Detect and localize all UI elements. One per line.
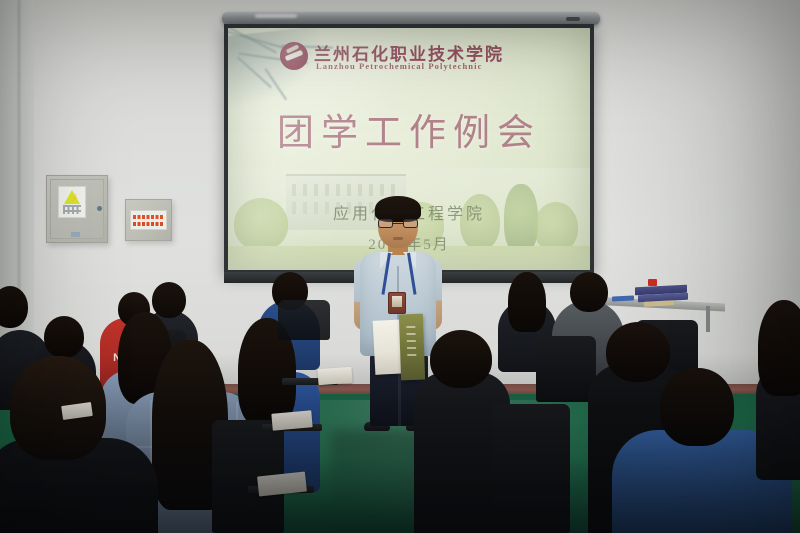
back-table-leg	[706, 306, 710, 332]
university-emblem-icon	[280, 42, 308, 70]
red-cap-bottle	[648, 279, 657, 286]
panel-lock-knob	[97, 206, 102, 211]
presenter-mouth	[393, 237, 403, 240]
breaker-switch-row-bottom	[133, 222, 164, 226]
notebook-paper	[271, 410, 312, 430]
olive-folder	[399, 314, 425, 381]
panel-label-tag	[71, 232, 80, 237]
high-voltage-warning-icon: ⚡	[58, 186, 86, 218]
roller-end-cap	[566, 17, 580, 21]
classroom-chair	[536, 336, 596, 402]
slide-school-name-en: Lanzhou Petrochemical Polytechnic	[316, 61, 482, 71]
warning-bolt-glyph: ⚡	[70, 195, 79, 202]
electrical-distribution-box: ⚡	[46, 175, 108, 243]
glasses-lens-left	[378, 219, 393, 228]
classroom-chair	[492, 404, 570, 533]
breaker-grid-graphic	[63, 205, 81, 214]
roller-highlight	[255, 14, 297, 18]
classroom-chair	[278, 300, 330, 340]
id-badge	[388, 292, 406, 314]
breaker-face	[130, 210, 167, 230]
circuit-breaker-box	[125, 199, 172, 241]
breaker-switch-row-top	[133, 215, 164, 219]
slide-title: 团学工作例会	[228, 102, 590, 156]
glasses-bridge	[393, 223, 403, 224]
glasses-lens-right	[403, 219, 418, 228]
classroom-presentation-photo: ⚡ 兰州石化职业技术学院 Lanzhou Petroc	[0, 0, 800, 533]
notebook-paper	[317, 367, 352, 385]
wall-corner-seam	[18, 0, 20, 300]
eyeglasses-icon	[378, 219, 418, 228]
